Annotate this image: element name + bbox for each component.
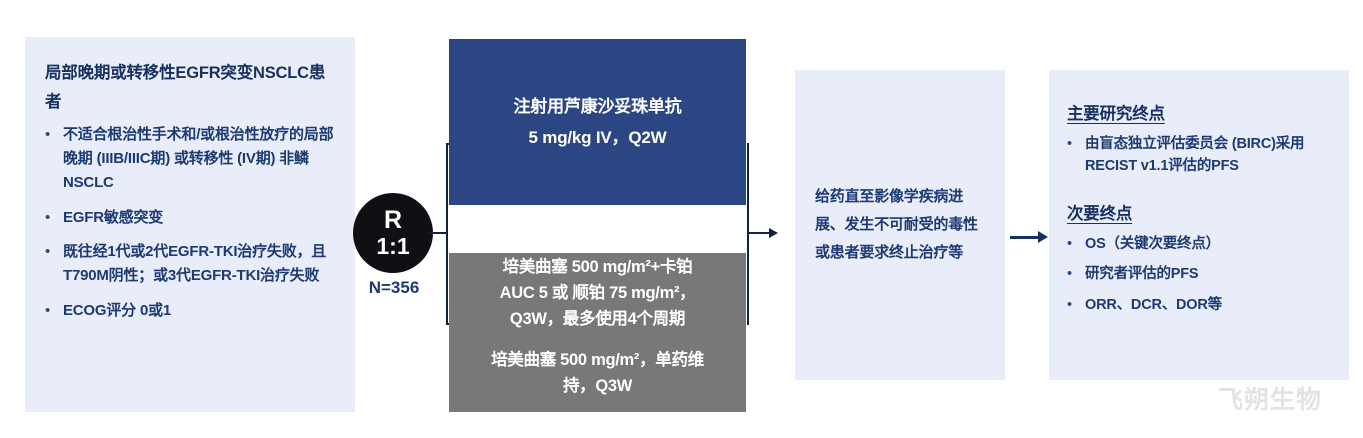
eligibility-title: 局部晚期或转移性EGFR突变NSCLC患者 [45, 59, 337, 117]
control-arm-line-3: Q3W，最多使用4个周期 [500, 307, 696, 333]
list-item: • 不适合根治性手术和/或根治性放疗的局部晚期 (IIIB/IIIC期) 或转移… [45, 123, 337, 196]
list-item: • 研究者评估的PFS [1067, 263, 1337, 285]
randomization-ratio: 1:1 [376, 234, 409, 260]
eligibility-criterion: ECOG评分 0或1 [63, 299, 337, 323]
endpoints-panel: 主要研究终点 • 由盲态独立评估委员会 (BIRC)采用RECIST v1.1评… [1049, 70, 1349, 380]
list-item: • EGFR敏感突变 [45, 206, 337, 230]
eligibility-bullet-list: • 不适合根治性手术和/或根治性放疗的局部晚期 (IIIB/IIIC期) 或转移… [45, 123, 337, 323]
experimental-arm-box: 注射用芦康沙妥珠单抗 5 mg/kg IV，Q2W [449, 39, 746, 205]
bullet-icon: • [45, 299, 63, 323]
bullet-icon: • [1067, 133, 1085, 155]
control-arm-line-1: 培美曲塞 500 mg/m²+卡铂 [500, 255, 696, 281]
arrow-icon [769, 228, 778, 238]
arrow-icon [1038, 231, 1048, 243]
control-arm-line-2: AUC 5 或 顺铂 75 mg/m²， [500, 281, 696, 307]
bullet-icon: • [1067, 263, 1085, 285]
eligibility-panel: 局部晚期或转移性EGFR突变NSCLC患者 • 不适合根治性手术和/或根治性放疗… [25, 37, 355, 412]
eligibility-criterion: EGFR敏感突变 [63, 206, 337, 230]
secondary-endpoint-heading: 次要终点 [1067, 200, 1337, 224]
bullet-icon: • [45, 240, 63, 264]
secondary-endpoint-list: • OS（关键次要终点） • 研究者评估的PFS • ORR、DCR、DOR等 [1067, 233, 1337, 316]
experimental-arm-dosing: 5 mg/kg IV，Q2W [514, 122, 682, 153]
bullet-icon: • [1067, 294, 1085, 316]
treatment-duration-text: 给药直至影像学疾病进展、发生不可耐受的毒性或患者要求终止治疗等 [815, 183, 985, 266]
bullet-icon: • [45, 206, 63, 230]
list-item: • 既往经1代或2代EGFR-TKI治疗失败，且T790M阴性；或3代EGFR-… [45, 240, 337, 289]
secondary-endpoint-item: OS（关键次要终点） [1085, 233, 1337, 255]
secondary-endpoint-item: ORR、DCR、DOR等 [1085, 294, 1337, 316]
treatment-duration-panel: 给药直至影像学疾病进展、发生不可耐受的毒性或患者要求终止治疗等 [795, 70, 1005, 380]
control-arm-box: 培美曲塞 500 mg/m²+卡铂 AUC 5 或 顺铂 75 mg/m²， Q… [449, 253, 746, 335]
connector-line-to-endpoints [1010, 236, 1040, 239]
primary-endpoint-item: 由盲态独立评估委员会 (BIRC)采用RECIST v1.1评估的PFS [1085, 133, 1337, 178]
connector-line-to-duration [749, 232, 771, 234]
primary-endpoint-heading: 主要研究终点 [1067, 100, 1337, 124]
list-item: • ECOG评分 0或1 [45, 299, 337, 323]
connector-line [429, 232, 447, 234]
primary-endpoint-list: • 由盲态独立评估委员会 (BIRC)采用RECIST v1.1评估的PFS [1067, 133, 1337, 178]
list-item: • OS（关键次要终点） [1067, 233, 1337, 255]
connector-bracket-arms-right [747, 143, 749, 325]
bullet-icon: • [45, 123, 63, 147]
watermark: 飞朔生物 [1218, 380, 1322, 416]
connector-bracket [446, 143, 448, 325]
sample-size-label: N=356 [348, 278, 440, 298]
randomization-letter: R [384, 206, 402, 234]
trial-design-diagram: 局部晚期或转移性EGFR突变NSCLC患者 • 不适合根治性手术和/或根治性放疗… [0, 0, 1363, 438]
eligibility-criterion: 不适合根治性手术和/或根治性放疗的局部晚期 (IIIB/IIIC期) 或转移性 … [63, 123, 337, 196]
bullet-icon: • [1067, 233, 1085, 255]
secondary-endpoint-item: 研究者评估的PFS [1085, 263, 1337, 285]
randomization-node: R 1:1 [353, 193, 433, 273]
maintenance-arm-box: 培美曲塞 500 mg/m²，单药维 持，Q3W [449, 335, 746, 412]
eligibility-criterion: 既往经1代或2代EGFR-TKI治疗失败，且T790M阴性；或3代EGFR-TK… [63, 240, 337, 289]
maintenance-arm-line-1: 培美曲塞 500 mg/m²，单药维 [491, 348, 704, 374]
list-item: • ORR、DCR、DOR等 [1067, 294, 1337, 316]
list-item: • 由盲态独立评估委员会 (BIRC)采用RECIST v1.1评估的PFS [1067, 133, 1337, 178]
maintenance-arm-line-2: 持，Q3W [491, 374, 704, 400]
experimental-arm-drug: 注射用芦康沙妥珠单抗 [514, 91, 682, 122]
